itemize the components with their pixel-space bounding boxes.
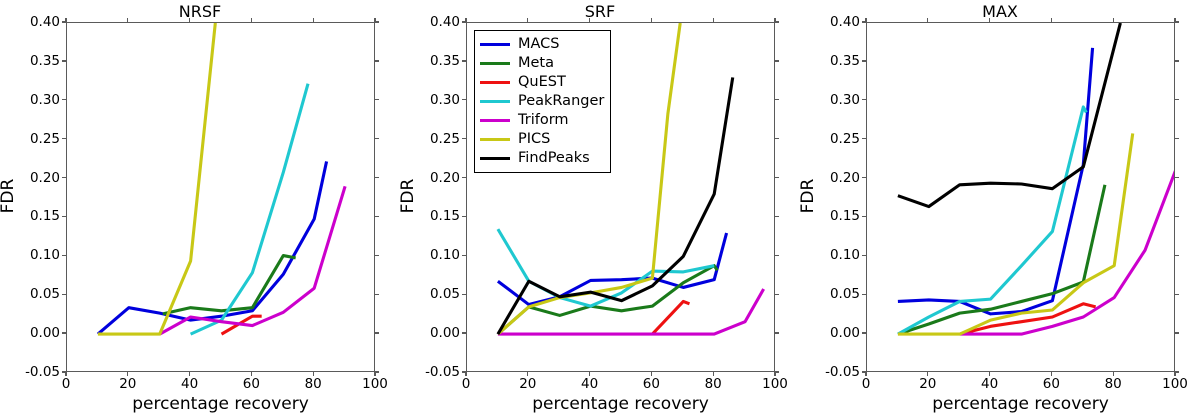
x-tick-mark (527, 372, 528, 376)
x-tick-mark (465, 372, 466, 376)
y-tick-label: 0.00 (404, 325, 460, 341)
chart-panel-max: MAXFDRpercentage recovery-0.050.000.050.… (800, 0, 1200, 413)
y-tick-label: 0.35 (4, 53, 60, 69)
y-tick-label: 0.25 (404, 131, 460, 147)
series-line-pics (98, 23, 215, 334)
series-line-peakranger (191, 84, 308, 334)
legend-label: PICS (518, 132, 550, 147)
legend-item-quest[interactable]: QuEST (480, 73, 604, 92)
series-line-macs (98, 161, 327, 334)
x-tick-label: 0 (41, 376, 91, 392)
x-tick-label: 20 (903, 376, 953, 392)
x-tick-mark (189, 372, 190, 376)
legend-label: FindPeaks (518, 151, 590, 166)
y-tick-label: 0.05 (4, 286, 60, 302)
legend-item-pics[interactable]: PICS (480, 130, 604, 149)
panel-title: SRF (400, 2, 800, 21)
series-line-peakranger (498, 229, 714, 306)
x-tick-label: 20 (103, 376, 153, 392)
x-tick-mark (1174, 372, 1175, 376)
y-tick-mark-right (775, 255, 779, 256)
y-tick-label: 0.35 (804, 53, 860, 69)
y-tick-mark-right (775, 332, 779, 333)
y-tick-mark-right (1175, 255, 1179, 256)
y-tick-mark-right (1175, 99, 1179, 100)
panel-title: MAX (800, 2, 1200, 21)
y-tick-mark-right (1175, 138, 1179, 139)
y-tick-label: 0.30 (404, 92, 460, 108)
x-tick-label: 100 (1150, 376, 1200, 392)
x-tick-label: 60 (626, 376, 676, 392)
legend-item-peakranger[interactable]: PeakRanger (480, 92, 604, 111)
legend-color-swatch-macs (480, 43, 510, 46)
x-tick-mark (651, 372, 652, 376)
x-tick-label: 0 (441, 376, 491, 392)
x-tick-label: 0 (841, 376, 891, 392)
x-axis-label: percentage recovery (66, 394, 375, 413)
y-tick-label: 0.15 (404, 208, 460, 224)
legend-label: Meta (518, 56, 554, 71)
y-tick-label: 0.20 (4, 170, 60, 186)
legend-color-swatch-meta (480, 62, 510, 65)
y-tick-mark-right (775, 216, 779, 217)
legend-item-macs[interactable]: MACS (480, 35, 604, 54)
y-tick-mark-right (775, 99, 779, 100)
y-tick-mark-right (1175, 294, 1179, 295)
y-tick-mark-right (1175, 332, 1179, 333)
figure-root: NRSFFDRpercentage recovery-0.050.000.050… (0, 0, 1200, 413)
y-tick-label: 0.40 (4, 14, 60, 30)
x-tick-label: 80 (288, 376, 338, 392)
legend-label: PeakRanger (518, 94, 604, 109)
plot-area (66, 22, 375, 372)
x-tick-label: 40 (565, 376, 615, 392)
x-tick-mark (127, 372, 128, 376)
y-tick-mark-right (1175, 60, 1179, 61)
x-tick-label: 40 (965, 376, 1015, 392)
y-tick-label: 0.35 (404, 53, 460, 69)
plot-area (866, 22, 1175, 372)
panel-title: NRSF (0, 2, 400, 21)
x-tick-mark (927, 372, 928, 376)
x-tick-mark (313, 372, 314, 376)
y-tick-label: 0.20 (804, 170, 860, 186)
y-tick-mark-right (375, 294, 379, 295)
y-tick-label: 0.40 (404, 14, 460, 30)
x-tick-mark (713, 372, 714, 376)
x-tick-label: 60 (226, 376, 276, 392)
y-tick-mark-right (375, 99, 379, 100)
legend-label: QuEST (518, 75, 566, 90)
legend-color-swatch-findpeaks (480, 157, 510, 160)
x-tick-mark (589, 372, 590, 376)
series-line-quest (652, 301, 689, 334)
y-tick-mark-right (775, 138, 779, 139)
x-tick-mark (374, 372, 375, 376)
legend-color-swatch-pics (480, 138, 510, 141)
x-tick-label: 100 (350, 376, 400, 392)
x-tick-label: 20 (503, 376, 553, 392)
x-tick-mark (774, 372, 775, 376)
chart-panel-srf: SRFFDRpercentage recovery-0.050.000.050.… (400, 0, 800, 413)
y-tick-label: 0.30 (4, 92, 60, 108)
y-tick-mark-right (375, 60, 379, 61)
legend-color-swatch-quest (480, 81, 510, 84)
x-axis-label: percentage recovery (466, 394, 775, 413)
x-tick-mark (65, 372, 66, 376)
y-tick-mark-right (1175, 177, 1179, 178)
y-tick-label: 0.00 (4, 325, 60, 341)
y-tick-label: 0.10 (404, 247, 460, 263)
y-tick-label: 0.05 (404, 286, 460, 302)
y-tick-label: 0.15 (4, 208, 60, 224)
legend-color-swatch-triform (480, 119, 510, 122)
y-tick-label: 0.40 (804, 14, 860, 30)
legend-item-findpeaks[interactable]: FindPeaks (480, 149, 604, 168)
x-tick-mark (989, 372, 990, 376)
y-tick-mark-right (375, 138, 379, 139)
y-tick-label: 0.30 (804, 92, 860, 108)
y-tick-mark-right (375, 332, 379, 333)
x-tick-label: 60 (1026, 376, 1076, 392)
y-tick-label: 0.00 (804, 325, 860, 341)
y-tick-label: 0.25 (804, 131, 860, 147)
y-tick-mark-right (375, 177, 379, 178)
x-tick-label: 100 (750, 376, 800, 392)
y-tick-mark-right (775, 60, 779, 61)
y-tick-label: 0.15 (804, 208, 860, 224)
legend-label: Triform (518, 113, 569, 128)
x-tick-label: 80 (688, 376, 738, 392)
chart-panel-nrsf: NRSFFDRpercentage recovery-0.050.000.050… (0, 0, 400, 413)
y-tick-mark-right (375, 255, 379, 256)
legend-label: MACS (518, 37, 560, 52)
legend-item-triform[interactable]: Triform (480, 111, 604, 130)
legend: MACSMetaQuESTPeakRangerTriformPICSFindPe… (474, 30, 611, 173)
y-tick-label: 0.10 (804, 247, 860, 263)
y-tick-mark-right (775, 294, 779, 295)
y-tick-mark-right (375, 216, 379, 217)
x-tick-label: 40 (165, 376, 215, 392)
y-tick-label: 0.25 (4, 131, 60, 147)
legend-item-meta[interactable]: Meta (480, 54, 604, 73)
x-tick-label: 80 (1088, 376, 1138, 392)
x-tick-mark (1051, 372, 1052, 376)
y-tick-label: 0.05 (804, 286, 860, 302)
x-tick-mark (1113, 372, 1114, 376)
x-axis-label: percentage recovery (866, 394, 1175, 413)
legend-color-swatch-peakranger (480, 100, 510, 103)
y-tick-label: 0.10 (4, 247, 60, 263)
y-tick-label: 0.20 (404, 170, 460, 186)
x-tick-mark (251, 372, 252, 376)
y-tick-mark-right (775, 177, 779, 178)
x-tick-mark (865, 372, 866, 376)
y-tick-mark-right (1175, 216, 1179, 217)
